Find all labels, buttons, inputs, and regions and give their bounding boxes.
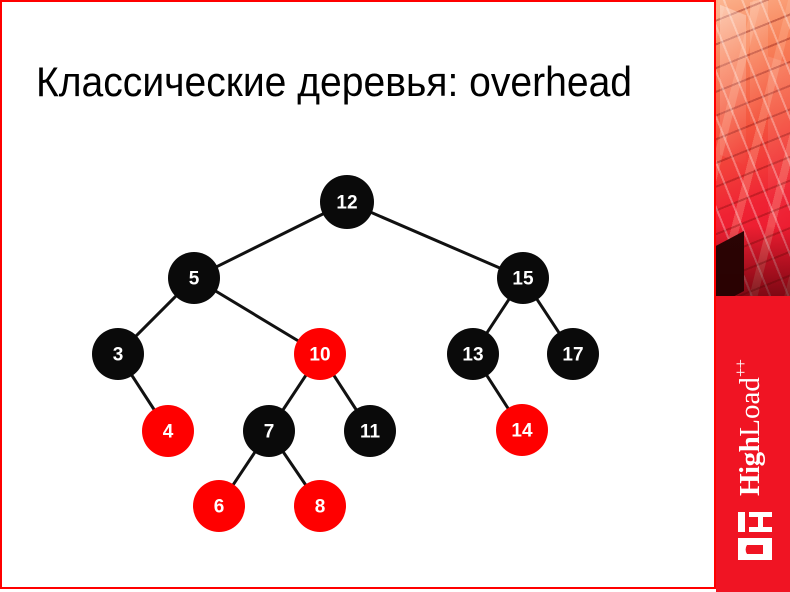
wordmark-high: High <box>734 437 766 496</box>
node-label: 6 <box>214 497 225 518</box>
tree-edge <box>282 451 306 486</box>
brand-band: HighLoad++ <box>716 296 790 592</box>
node-label: 3 <box>113 345 124 366</box>
node-label: 12 <box>336 193 357 214</box>
node-label: 5 <box>189 269 200 290</box>
tree-edge <box>131 374 155 411</box>
slide: Классические деревья: overhead 125153101… <box>0 0 790 592</box>
tree-edge <box>486 298 510 334</box>
tree-edge <box>282 374 306 411</box>
node-label: 13 <box>462 345 483 366</box>
facade-shard <box>720 5 746 166</box>
tree-node: 12 <box>320 175 374 229</box>
node-label: 11 <box>360 422 381 443</box>
tree-node: 6 <box>193 480 245 532</box>
wordmark-load: Load <box>734 377 766 437</box>
tree-edge <box>536 298 560 334</box>
node-label: 8 <box>315 497 326 518</box>
tree-node: 8 <box>294 480 346 532</box>
wordmark-plus: ++ <box>731 360 750 377</box>
tree-edge <box>215 213 324 267</box>
tree-edge <box>135 295 177 337</box>
tree-node: 11 <box>344 405 396 457</box>
facade-shard <box>768 56 790 233</box>
node-label: 4 <box>163 422 174 443</box>
node-label: 17 <box>562 345 583 366</box>
decorative-facade-image <box>716 0 790 296</box>
tree-node: 5 <box>168 252 220 304</box>
node-label: 15 <box>512 269 534 290</box>
tree-node: 17 <box>547 328 599 380</box>
tree-svg: 12515310131747111468 <box>0 0 716 589</box>
brand-logo: HighLoad++ <box>716 296 790 574</box>
brand-sidebar: HighLoad++ <box>716 0 790 592</box>
tree-diagram: 12515310131747111468 <box>0 0 716 589</box>
highload-square-mark <box>738 512 772 560</box>
tree-node: 10 <box>294 328 346 380</box>
tree-nodes: 12515310131747111468 <box>92 175 599 532</box>
tree-node: 13 <box>447 328 499 380</box>
facade-dark-corner <box>716 231 744 296</box>
tree-node: 7 <box>243 405 295 457</box>
node-label: 10 <box>309 345 330 366</box>
facade-shard <box>750 0 768 122</box>
tree-edge <box>370 212 501 269</box>
tree-node: 4 <box>142 405 194 457</box>
tree-node: 14 <box>496 404 548 456</box>
tree-edge <box>333 374 357 411</box>
tree-node: 15 <box>497 252 549 304</box>
tree-edge <box>232 451 255 486</box>
highload-wordmark: HighLoad++ <box>726 360 765 496</box>
tree-edge <box>215 290 300 341</box>
tree-edge <box>486 374 509 410</box>
tree-node: 3 <box>92 328 144 380</box>
node-label: 14 <box>511 421 533 442</box>
node-label: 7 <box>264 422 275 443</box>
